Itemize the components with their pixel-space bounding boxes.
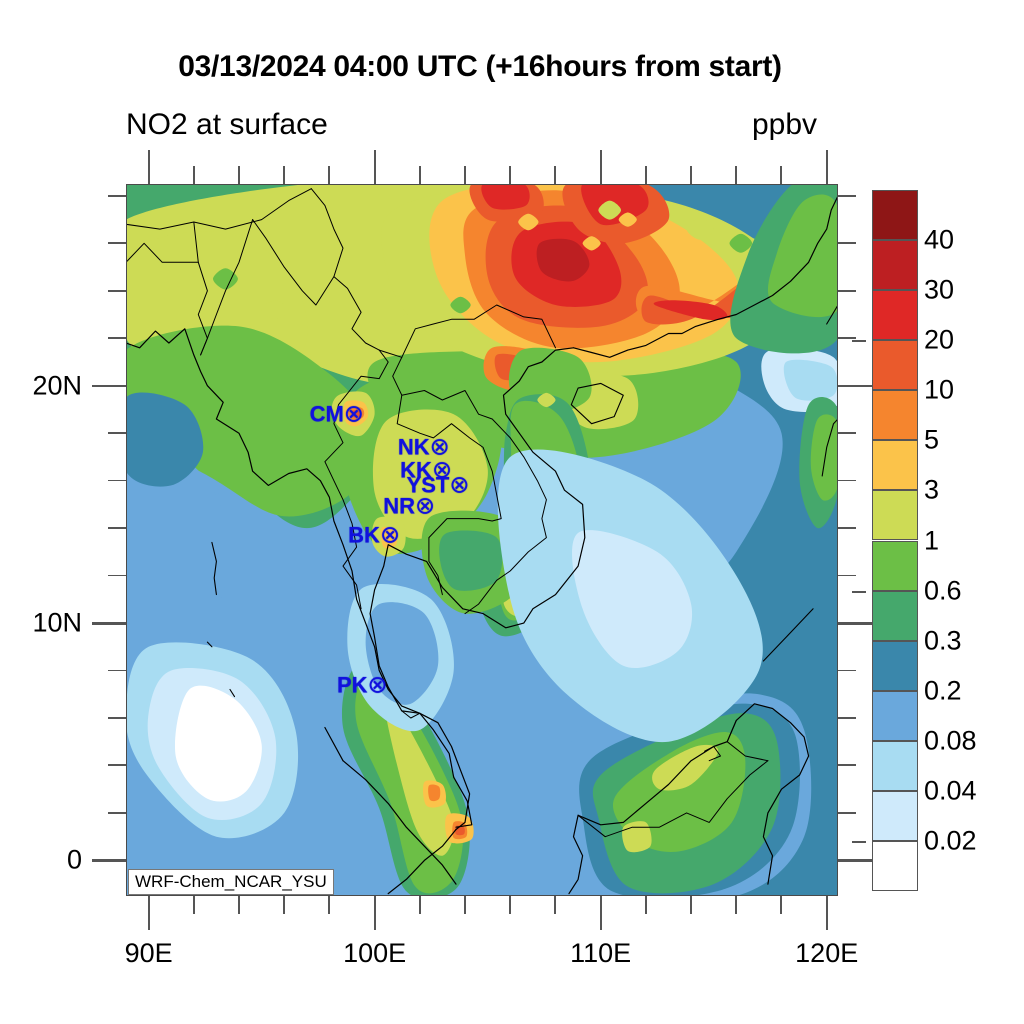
colorbar-band — [872, 340, 918, 390]
band-borneo-sw — [622, 821, 652, 852]
axis-tick — [108, 337, 126, 339]
axis-tick — [374, 150, 377, 184]
colorbar-band — [872, 290, 918, 340]
station-cross-circle-icon: ⊗ — [368, 671, 388, 698]
axis-tick — [780, 896, 782, 914]
no2-contour-map — [126, 184, 838, 896]
axis-tick — [554, 166, 556, 184]
axis-tick — [735, 896, 737, 914]
station-marker-cm[interactable]: CM⊗ — [310, 400, 364, 429]
axis-tick — [148, 896, 151, 930]
colorbar-tick-label: 10 — [924, 375, 954, 406]
axis-tick — [838, 764, 856, 766]
axis-tick — [374, 896, 377, 930]
axis-tick — [735, 166, 737, 184]
axis-tick — [92, 622, 126, 625]
figure-title: 03/13/2024 04:00 UTC (+16hours from star… — [0, 50, 960, 84]
colorbar-band — [872, 641, 918, 691]
axis-tick — [838, 622, 872, 625]
colorbar-band — [872, 240, 918, 290]
colorbar-tick-label: 3 — [924, 475, 939, 506]
axis-tick — [600, 896, 603, 930]
colorbar-minor-tick — [852, 340, 866, 342]
figure-canvas: 03/13/2024 04:00 UTC (+16hours from star… — [0, 0, 1024, 1024]
axis-tick — [600, 150, 603, 184]
colorbar-band — [872, 490, 918, 540]
axis-tick — [148, 150, 151, 184]
y-axis-tick-label: 0 — [0, 845, 82, 876]
axis-tick — [108, 717, 126, 719]
map-plot-area — [126, 184, 838, 896]
colorbar-band — [872, 691, 918, 741]
colorbar-tick-label: 0.3 — [924, 625, 962, 656]
colorbar-band — [872, 440, 918, 490]
station-label: NR — [383, 493, 415, 518]
axis-tick — [283, 166, 285, 184]
axis-tick — [328, 166, 330, 184]
axis-tick — [108, 195, 126, 197]
axis-tick — [108, 812, 126, 814]
axis-tick — [838, 717, 856, 719]
axis-tick — [509, 166, 511, 184]
y-axis-tick-label: 10N — [0, 608, 82, 639]
axis-tick — [108, 670, 126, 672]
axis-tick — [419, 166, 421, 184]
x-axis-tick-label: 110E — [570, 938, 631, 969]
axis-tick — [780, 166, 782, 184]
colorbar-band — [872, 541, 918, 591]
colorbar-band — [872, 190, 918, 240]
axis-tick — [554, 896, 556, 914]
station-label: PK — [337, 672, 368, 697]
colorbar-tick-label: 0.2 — [924, 675, 962, 706]
axis-tick — [419, 896, 421, 914]
axis-tick — [838, 575, 856, 577]
axis-tick — [838, 432, 856, 434]
axis-tick — [838, 812, 856, 814]
axis-tick — [838, 195, 856, 197]
colorbar-tick-label: 0.02 — [924, 825, 977, 856]
axis-tick — [838, 527, 856, 529]
y-axis-tick-label: 20N — [0, 370, 82, 401]
axis-tick — [838, 337, 856, 339]
axis-tick — [92, 385, 126, 388]
colorbar-band — [872, 841, 918, 891]
axis-tick — [838, 859, 872, 862]
colorbar-tick-label: 20 — [924, 325, 954, 356]
axis-tick — [108, 527, 126, 529]
colorbar-band — [872, 791, 918, 841]
axis-tick — [509, 896, 511, 914]
station-label: CM — [310, 402, 344, 427]
axis-tick — [645, 166, 647, 184]
axis-tick — [645, 896, 647, 914]
station-cross-circle-icon: ⊗ — [344, 401, 364, 428]
band-kl-orange — [428, 785, 440, 802]
band-tonle-sap — [439, 531, 502, 591]
axis-tick — [838, 670, 856, 672]
station-marker-bk[interactable]: BK⊗ — [348, 521, 400, 550]
colorbar-band — [872, 741, 918, 791]
axis-tick — [193, 896, 195, 914]
colorbar-tick-label: 5 — [924, 425, 939, 456]
axis-tick — [838, 242, 856, 244]
station-label: BK — [348, 523, 380, 548]
axis-tick — [193, 166, 195, 184]
axis-tick — [283, 896, 285, 914]
axis-tick — [108, 242, 126, 244]
colorbar-band — [872, 390, 918, 440]
axis-tick — [464, 896, 466, 914]
variable-label: NO2 at surface — [126, 108, 328, 142]
axis-tick — [826, 150, 829, 184]
axis-tick — [92, 859, 126, 862]
colorbar-minor-tick — [852, 841, 866, 843]
colorbar[interactable] — [872, 190, 918, 891]
colorbar-tick-label: 30 — [924, 275, 954, 306]
axis-tick — [108, 480, 126, 482]
axis-tick — [690, 896, 692, 914]
station-cross-circle-icon: ⊗ — [380, 522, 400, 549]
x-axis-tick-label: 120E — [795, 938, 858, 969]
axis-tick — [238, 896, 240, 914]
colorbar-tick-label: 40 — [924, 225, 954, 256]
colorbar-tick-label: 0.6 — [924, 575, 962, 606]
x-axis-tick-label: 90E — [125, 938, 173, 969]
station-cross-circle-icon: ⊗ — [415, 492, 435, 519]
station-marker-nr[interactable]: NR⊗ — [383, 491, 435, 520]
axis-tick — [838, 385, 872, 388]
x-axis-tick-label: 100E — [343, 938, 406, 969]
units-label: ppbv — [752, 108, 817, 142]
axis-tick — [108, 575, 126, 577]
model-watermark: WRF-Chem_NCAR_YSU — [128, 869, 334, 895]
axis-tick — [838, 290, 856, 292]
axis-tick — [464, 166, 466, 184]
colorbar-tick-label: 0.04 — [924, 775, 977, 806]
station-cross-circle-icon: ⊗ — [449, 472, 469, 499]
colorbar-tick-label: 0.08 — [924, 725, 977, 756]
axis-tick — [238, 166, 240, 184]
colorbar-tick-label: 1 — [924, 525, 939, 556]
axis-tick — [108, 432, 126, 434]
colorbar-band — [872, 591, 918, 641]
axis-tick — [108, 764, 126, 766]
axis-tick — [838, 480, 856, 482]
axis-tick — [690, 166, 692, 184]
colorbar-minor-tick — [852, 591, 866, 593]
axis-tick — [328, 896, 330, 914]
axis-tick — [826, 896, 829, 930]
station-marker-pk[interactable]: PK⊗ — [337, 670, 388, 699]
axis-tick — [108, 290, 126, 292]
